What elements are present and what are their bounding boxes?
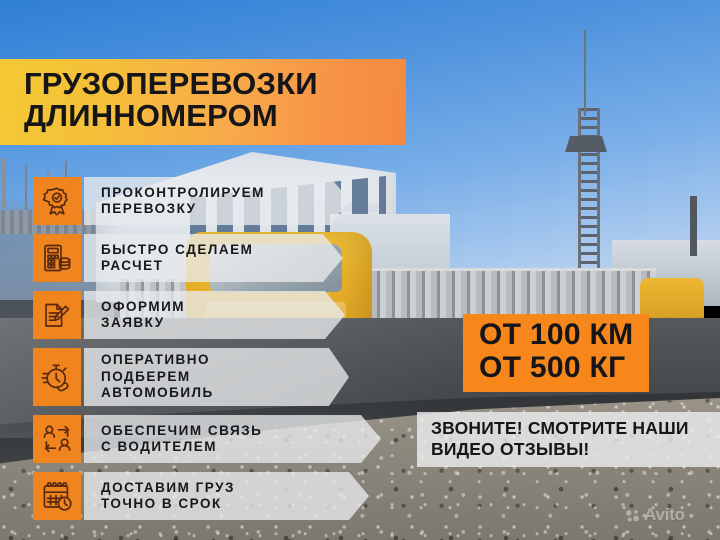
badge-distance: ОТ 100 КМ <box>479 318 633 351</box>
feature-chip: ОПЕРАТИВНО ПОДБЕРЕМ АВТОМОБИЛЬ <box>84 348 349 406</box>
feature-text-line-3: АВТОМОБИЛЬ <box>101 385 214 401</box>
feature-text-line-1: ОФОРМИМ <box>101 299 185 315</box>
feature-text-line-2: ПОДБЕРЕМ <box>101 369 214 385</box>
feature-text-line-1: БЫСТРО СДЕЛАЕМ <box>101 242 253 258</box>
award-ribbon-icon <box>33 177 81 225</box>
feature-chip: ПРОКОНТРОЛИРУЕМ ПЕРЕВОЗКУ <box>84 177 350 225</box>
mast-antenna <box>584 30 586 116</box>
feature-item-control-shipment: ПРОКОНТРОЛИРУЕМ ПЕРЕВОЗКУ <box>33 177 381 225</box>
feature-text-line-2: ПЕРЕВОЗКУ <box>101 201 265 217</box>
feature-text-line-1: ОПЕРАТИВНО <box>101 352 214 368</box>
feature-text-line-1: ПРОКОНТРОЛИРУЕМ <box>101 185 265 201</box>
communications-mast <box>578 108 600 278</box>
right-smokestack <box>690 196 697 256</box>
calculator-coins-icon <box>33 234 81 282</box>
feature-text-line-2: ТОЧНО В СРОК <box>101 496 235 512</box>
document-pencil-icon <box>33 291 81 339</box>
headline-line-1: ГРУЗОПЕРЕВОЗКИ <box>24 68 390 100</box>
avito-logo-icon <box>625 508 640 523</box>
feature-item-fast-quote: БЫСТРО СДЕЛАЕМ РАСЧЕТ <box>33 234 381 282</box>
feature-list: ПРОКОНТРОЛИРУЕМ ПЕРЕВОЗКУ <box>33 177 381 529</box>
feature-item-process-order: ОФОРМИМ ЗАЯВКУ <box>33 291 381 339</box>
feature-text-line-2: С ВОДИТЕЛЕМ <box>101 439 262 455</box>
price-conditions-badge: ОТ 100 КМ ОТ 500 КГ <box>463 314 649 392</box>
stopwatch-hand-icon <box>33 348 81 406</box>
feature-text-line-2: ЗАЯВКУ <box>101 315 185 331</box>
cta-line-2: ВИДЕО ОТЗЫВЫ! <box>431 439 710 460</box>
avito-watermark-text: Avito <box>644 505 685 525</box>
headline-line-2: ДЛИННОМЕРОМ <box>24 100 390 132</box>
feature-item-driver-contact: ОБЕСПЕЧИМ СВЯЗЬ С ВОДИТЕЛЕМ <box>33 415 381 463</box>
people-exchange-icon <box>33 415 81 463</box>
feature-item-on-time-delivery: ДОСТАВИМ ГРУЗ ТОЧНО В СРОК <box>33 472 381 520</box>
call-to-action: ЗВОНИТЕ! СМОТРИТЕ НАШИ ВИДЕО ОТЗЫВЫ! <box>417 412 720 467</box>
feature-chip: ДОСТАВИМ ГРУЗ ТОЧНО В СРОК <box>84 472 369 520</box>
badge-weight: ОТ 500 КГ <box>479 351 633 384</box>
calendar-clock-icon <box>33 472 81 520</box>
avito-watermark: Avito <box>625 505 685 525</box>
feature-chip: БЫСТРО СДЕЛАЕМ РАСЧЕТ <box>84 234 343 282</box>
feature-text-line-2: РАСЧЕТ <box>101 258 253 274</box>
feature-item-quick-vehicle: ОПЕРАТИВНО ПОДБЕРЕМ АВТОМОБИЛЬ <box>33 348 381 406</box>
feature-chip: ОБЕСПЕЧИМ СВЯЗЬ С ВОДИТЕЛЕМ <box>84 415 381 463</box>
feature-text-line-1: ОБЕСПЕЧИМ СВЯЗЬ <box>101 423 262 439</box>
advertisement-banner: ГРУЗОПЕРЕВОЗКИ ДЛИННОМЕРОМ ПРОКОНТРОЛИРУ… <box>0 0 720 540</box>
cta-line-1: ЗВОНИТЕ! СМОТРИТЕ НАШИ <box>431 418 710 439</box>
headline-banner: ГРУЗОПЕРЕВОЗКИ ДЛИННОМЕРОМ <box>0 59 406 145</box>
feature-text-line-1: ДОСТАВИМ ГРУЗ <box>101 480 235 496</box>
mast-platform <box>565 136 607 152</box>
feature-chip: ОФОРМИМ ЗАЯВКУ <box>84 291 345 339</box>
